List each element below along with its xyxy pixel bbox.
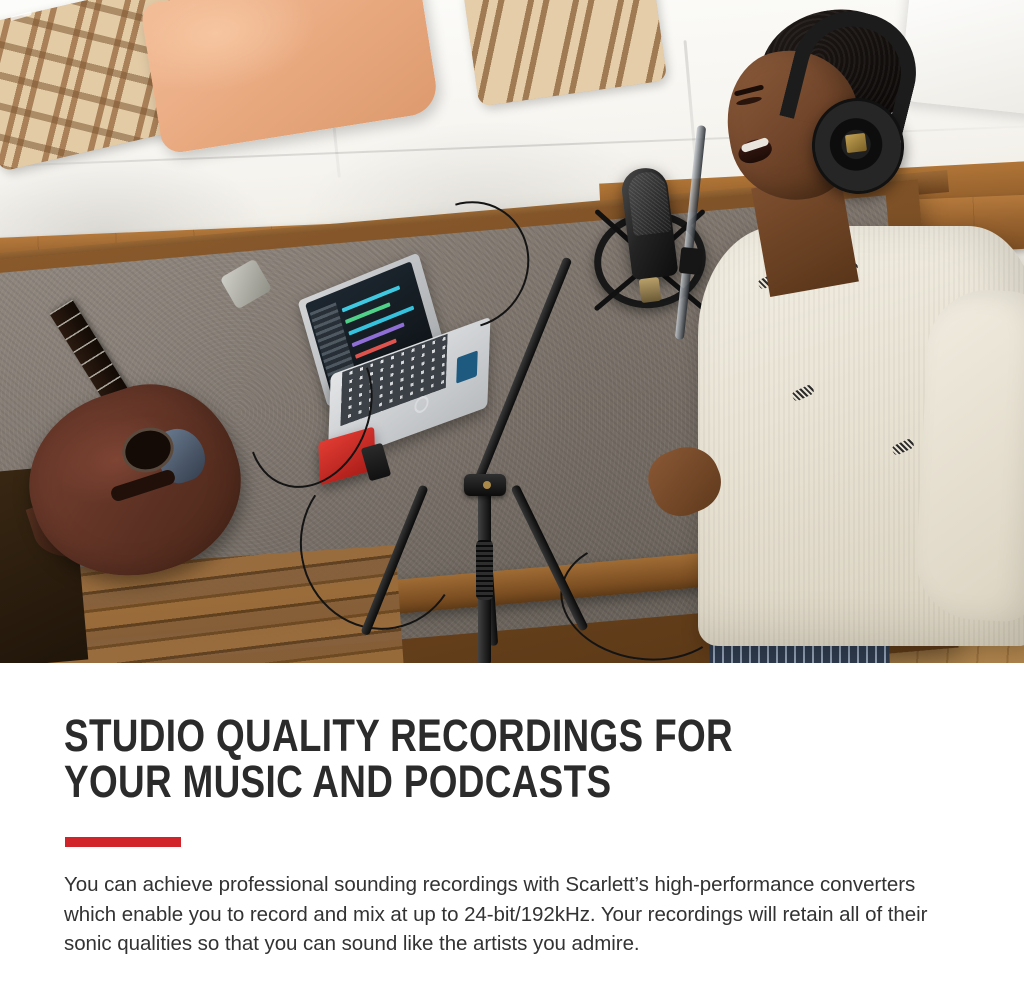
headline-line-1: STUDIO QUALITY RECORDINGS FOR [64, 713, 687, 759]
body-paragraph: You can achieve professional sounding re… [64, 870, 944, 959]
red-divider-rule [65, 837, 181, 847]
photo-scene [0, 0, 1024, 663]
headline-line-2: YOUR MUSIC AND PODCASTS [64, 759, 687, 805]
right-arm [913, 287, 1024, 623]
copy-block: STUDIO QUALITY RECORDINGS FOR YOUR MUSIC… [0, 663, 1024, 993]
mic-stand-grip [476, 540, 493, 600]
marketing-page: STUDIO QUALITY RECORDINGS FOR YOUR MUSIC… [0, 0, 1024, 993]
hero-photo [0, 0, 1024, 663]
singer [640, 0, 1024, 663]
headphone-logo [845, 133, 867, 153]
mic-stand-screw [483, 481, 491, 489]
page-title: STUDIO QUALITY RECORDINGS FOR YOUR MUSIC… [64, 713, 687, 805]
